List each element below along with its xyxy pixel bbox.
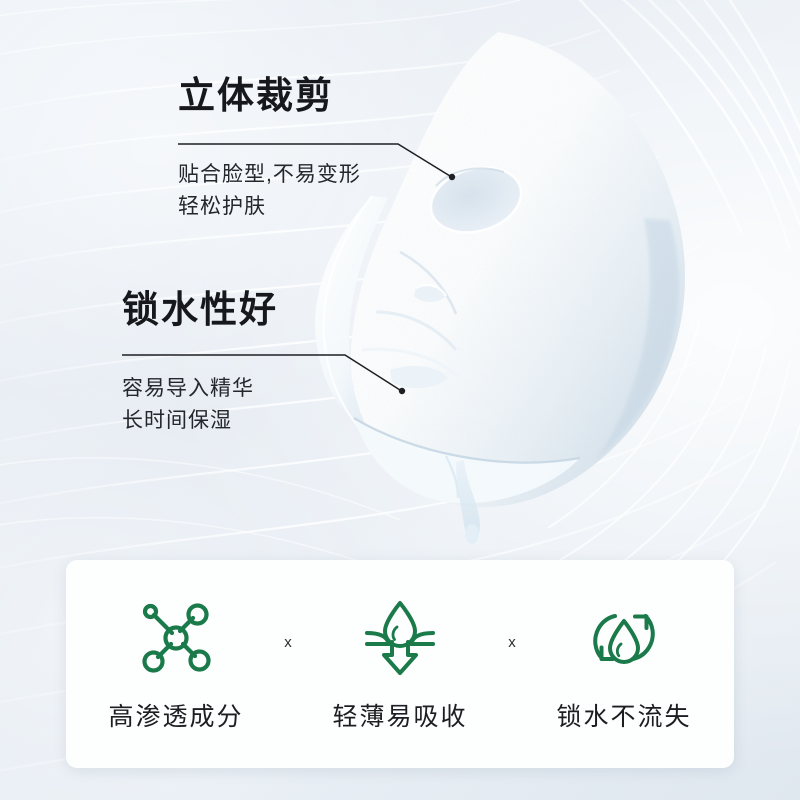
benefit-2-label: 轻薄易吸收	[332, 697, 467, 733]
feature-1-title: 立体裁剪	[178, 78, 361, 115]
absorb-droplet-arrow-icon	[359, 595, 441, 681]
feature-1-subtitle-line-1: 贴合脸型,不易变形	[178, 159, 361, 191]
feature-2-subtitle-line-2: 长时间保湿	[122, 405, 278, 437]
benefits-card: 高渗透成分 x 轻薄易吸收 x	[66, 560, 734, 768]
benefit-item-1: 高渗透成分	[88, 595, 264, 733]
benefit-1-label: 高渗透成分	[108, 697, 243, 733]
benefit-item-3: 锁水不流失	[536, 595, 712, 733]
benefit-item-2: 轻薄易吸收	[312, 595, 488, 733]
benefit-3-label: 锁水不流失	[556, 697, 691, 733]
feature-1-subtitle-line-2: 轻松护肤	[178, 191, 361, 223]
separator-1: x	[284, 634, 292, 651]
feature-block-1: 立体裁剪 贴合脸型,不易变形 轻松护肤	[178, 78, 361, 223]
feature-block-2: 锁水性好 容易导入精华 长时间保湿	[122, 292, 278, 437]
separator-2: x	[508, 634, 516, 651]
droplet-recycle-icon	[583, 595, 665, 681]
feature-2-subtitle-line-1: 容易导入精华	[122, 373, 278, 405]
molecule-icon	[135, 595, 217, 681]
feature-2-title: 锁水性好	[122, 292, 278, 329]
promo-page: 立体裁剪 贴合脸型,不易变形 轻松护肤 锁水性好 容易导入精华 长时间保湿	[0, 0, 800, 800]
